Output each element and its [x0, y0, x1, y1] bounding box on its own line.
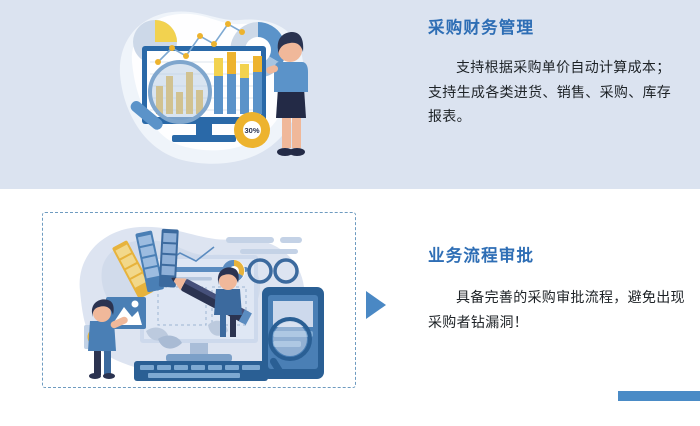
- text-block-workflow-approval: 业务流程审批 具备完善的采购审批流程，避免出现采购者钻漏洞！: [428, 246, 686, 334]
- section-workflow-approval: 业务流程审批 具备完善的采购审批流程，避免出现采购者钻漏洞！: [0, 189, 700, 426]
- blue-accent-bar: [618, 391, 700, 401]
- workflow-svg: [62, 221, 344, 383]
- data-analytics-illustration: 30%: [110, 2, 315, 170]
- workflow-design-illustration: [62, 221, 344, 383]
- text-block-purchase-finance: 采购财务管理 支持根据采购单价自动计算成本；支持生成各类进货、销售、采购、库存报…: [428, 18, 683, 128]
- heading-workflow-approval: 业务流程审批: [428, 246, 686, 267]
- section-purchase-finance: 30% 采购财务管理 支持根据采购单价自动计算成本；支持生成各类进货、销售、采购…: [0, 0, 700, 189]
- page-root: 30% 采购财务管理 支持根据采购单价自动计算成本；支持生成各类进货、销售、采购…: [0, 0, 700, 426]
- triangle-right-icon: [366, 291, 386, 319]
- svg-text:30%: 30%: [244, 126, 259, 135]
- body-workflow-approval: 具备完善的采购审批流程，避免出现采购者钻漏洞！: [428, 285, 686, 333]
- analytics-svg: 30%: [110, 2, 315, 170]
- body-purchase-finance: 支持根据采购单价自动计算成本；支持生成各类进货、销售、采购、库存报表。: [428, 55, 683, 127]
- heading-purchase-finance: 采购财务管理: [428, 18, 683, 39]
